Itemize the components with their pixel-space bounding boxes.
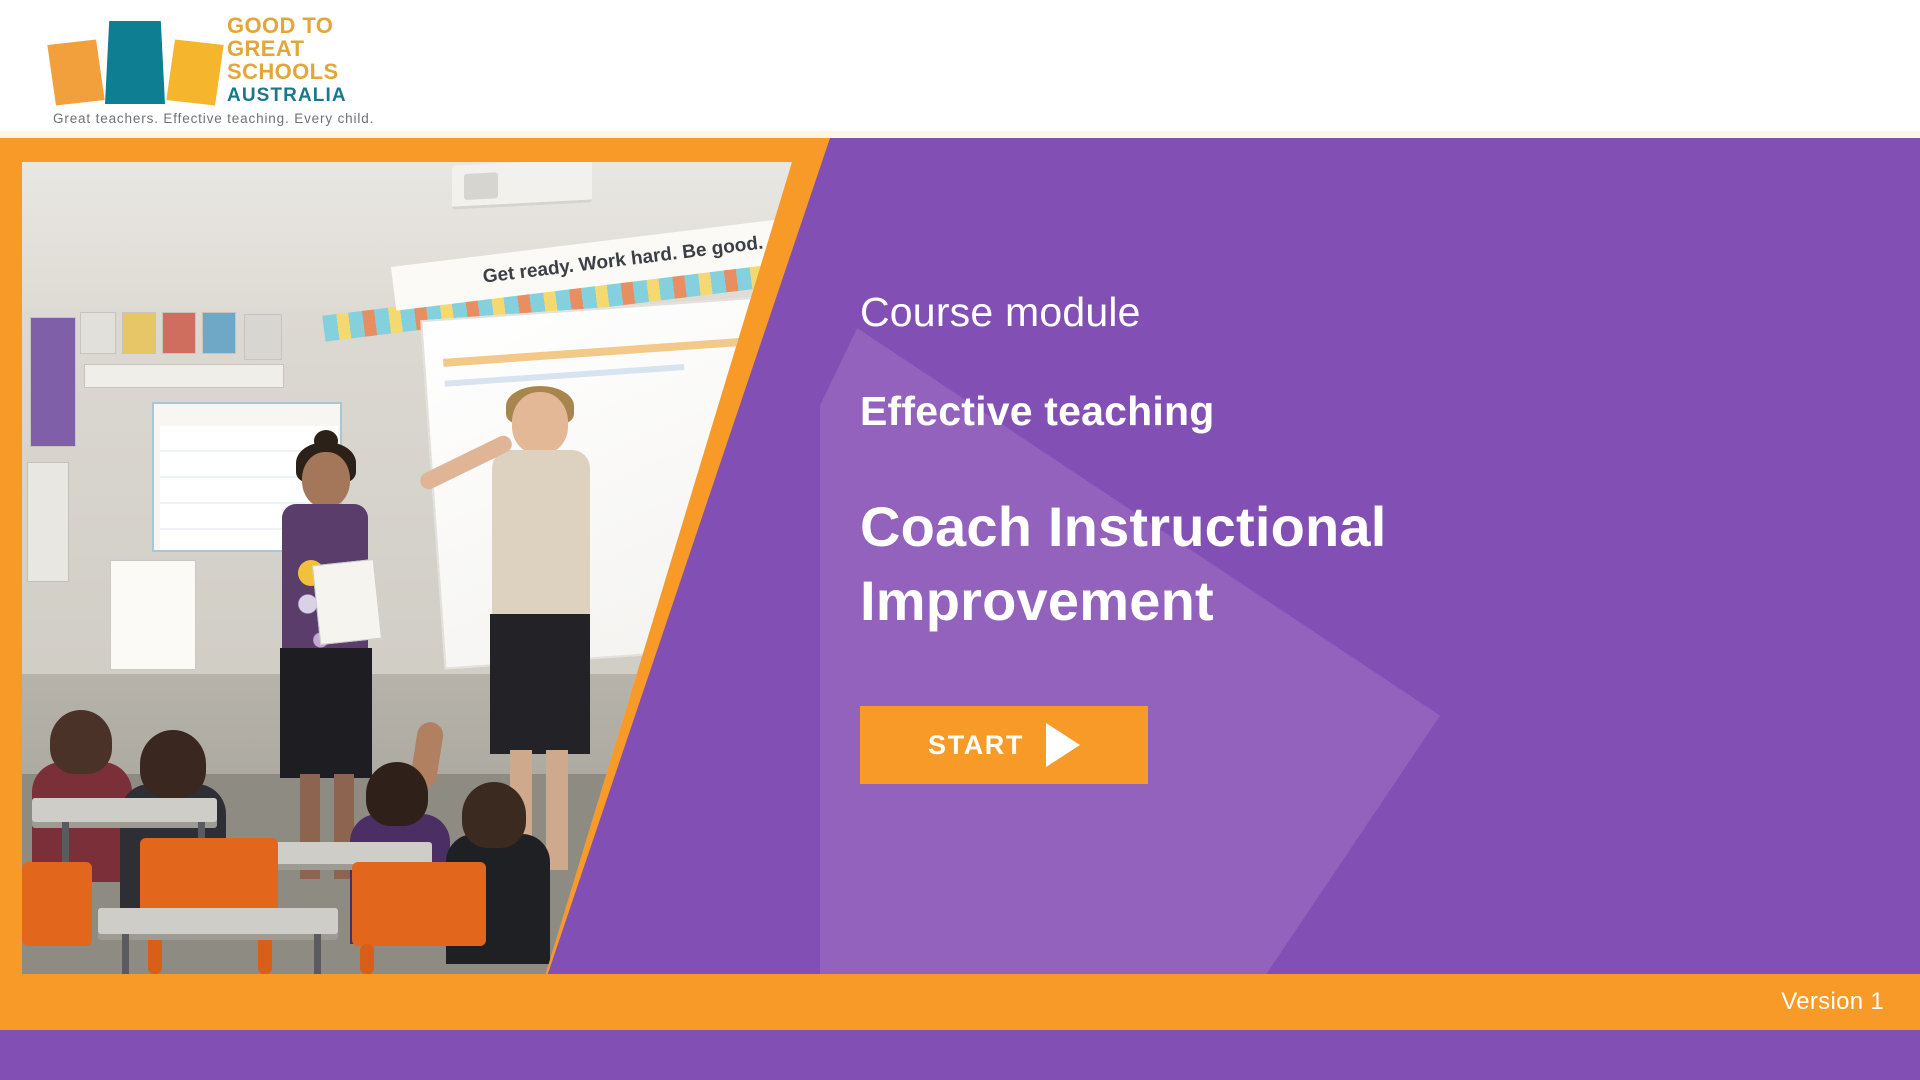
photo-teacher-body [492, 450, 590, 620]
photo-desk [98, 908, 338, 934]
logo-wordmark: GOOD TO GREAT SCHOOLS AUSTRALIA [227, 14, 352, 107]
page-header: GOOD TO GREAT SCHOOLS AUSTRALIA Great te… [0, 0, 1920, 138]
photo-poster [30, 317, 76, 447]
photo-assistant-head [302, 452, 350, 508]
photo-whiteboard-line-2 [445, 364, 685, 387]
photo-assistant-paper [312, 559, 382, 645]
brand-logo[interactable]: GOOD TO GREAT SCHOOLS AUSTRALIA Great te… [45, 8, 345, 130]
photo-student-head [462, 782, 526, 848]
logo-country: AUSTRALIA [227, 85, 352, 107]
module-title: Effective teaching [860, 389, 1760, 434]
photo-desk [252, 842, 432, 864]
photo-chair-leg [360, 944, 374, 974]
course-title: Coach Instructional Improvement [860, 490, 1500, 638]
photo-student-head [366, 762, 428, 826]
slide-canvas: Get ready. Work hard. Be good. [0, 0, 1920, 1080]
photo-poster [84, 364, 284, 388]
course-module-eyebrow: Course module [860, 290, 1760, 335]
photo-desk [32, 798, 217, 822]
photo-teacher-head [512, 392, 568, 454]
logo-book-right-icon [163, 36, 226, 110]
version-label: Version 1 [1781, 988, 1884, 1016]
photo-assistant-skirt [280, 648, 372, 778]
photo-desk-leg [314, 934, 321, 974]
logo-line-3: SCHOOLS [227, 60, 352, 83]
photo-poster [202, 312, 236, 354]
start-button-label: START [928, 730, 1024, 761]
slide-content: Course module Effective teaching Coach I… [860, 290, 1760, 784]
logo-books-icon [50, 18, 222, 101]
photo-poster [80, 312, 116, 354]
photo-poster [244, 314, 282, 360]
logo-book-center-icon [105, 21, 165, 104]
photo-teacher-skirt [490, 614, 590, 754]
photo-student-head [50, 710, 112, 774]
header-divider [0, 131, 1920, 138]
photo-side-chart [27, 462, 69, 582]
photo-student-head [140, 730, 206, 798]
photo-desk-leg [122, 934, 129, 974]
start-button[interactable]: START [860, 706, 1148, 784]
footer-purple-strip [0, 1030, 1920, 1080]
photo-poster [162, 312, 196, 354]
photo-teacher-leg [546, 750, 568, 870]
photo-chair [352, 862, 486, 946]
logo-book-left-icon [44, 36, 107, 110]
footer-bar: Version 1 [0, 974, 1920, 1030]
play-triangle-icon [1046, 723, 1080, 767]
logo-line-2: GREAT [227, 37, 352, 60]
photo-paper-board [110, 560, 196, 670]
photo-projector [452, 162, 592, 210]
photo-poster [122, 312, 156, 354]
logo-line-1: GOOD TO [227, 14, 352, 37]
brand-tagline: Great teachers. Effective teaching. Ever… [53, 111, 374, 126]
photo-chair [22, 862, 92, 946]
photo-whiteboard-line-1 [443, 338, 743, 367]
